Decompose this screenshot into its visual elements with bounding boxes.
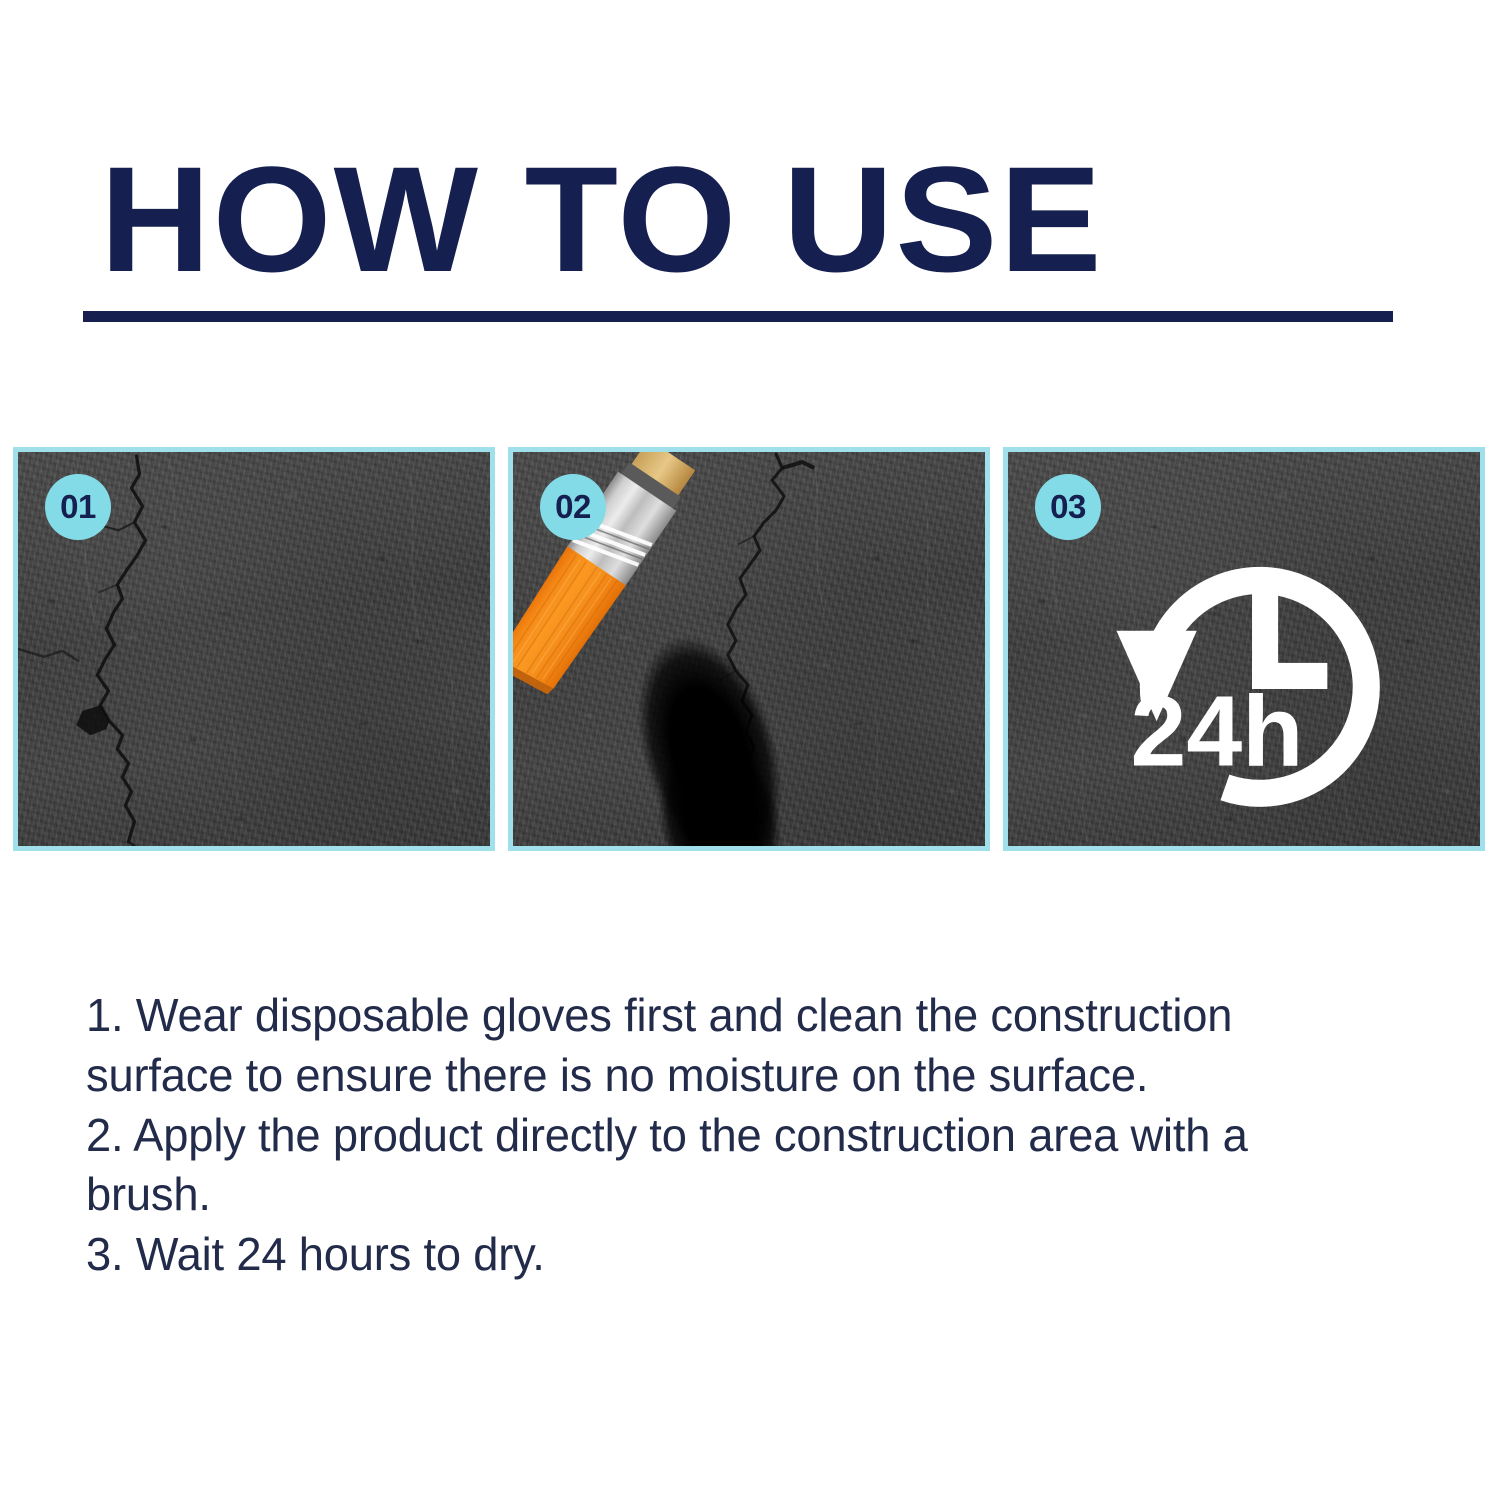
title-block: HOW TO USE [100, 146, 1400, 293]
instruction-line: brush. [86, 1165, 1396, 1225]
step-badge-01: 01 [45, 474, 111, 540]
step-badge-02: 02 [540, 474, 606, 540]
how-to-use-infographic: HOW TO USE [0, 0, 1500, 1500]
instruction-line: 3. Wait 24 hours to dry. [86, 1225, 1396, 1285]
step-panel-01: 01 [13, 447, 495, 851]
instructions-block: 1. Wear disposable gloves first and clea… [86, 986, 1396, 1285]
instruction-line: 1. Wear disposable gloves first and clea… [86, 986, 1396, 1046]
step-panel-02: 02 [508, 447, 990, 851]
page-title: HOW TO USE [100, 146, 1426, 293]
step-badge-03: 03 [1035, 474, 1101, 540]
step-panel-03: 24h 03 [1003, 447, 1485, 851]
instruction-line: 2. Apply the product directly to the con… [86, 1106, 1396, 1166]
step-panel-strip: 01 [13, 447, 1485, 851]
title-underline-rule [83, 311, 1393, 322]
instruction-line: surface to ensure there is no moisture o… [86, 1046, 1396, 1106]
